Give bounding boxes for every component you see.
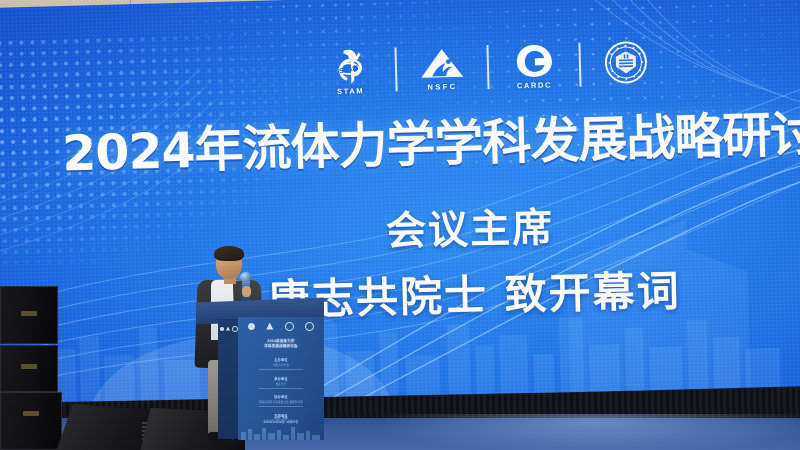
speaker-name-label: 唐志共院士 致开幕词 (267, 257, 681, 327)
organizer-heading: 协办单位 (244, 394, 318, 399)
divider (259, 388, 303, 389)
logo-cell-cardc: CARDC (488, 41, 579, 90)
lectern-front-panel: 2024年流体力学 学科发展战略研讨会 主办单位 中国力学学会 承办单位 重庆大… (238, 317, 324, 440)
list-item: 承办单位 重庆大学 (244, 376, 318, 389)
lectern-skyline-motif (238, 424, 324, 440)
conference-stage-photo: STAM STAM NSFC CARDC (0, 0, 800, 450)
lectern-front-logos (242, 321, 320, 331)
organizer-name: 中国力学学会 (244, 363, 318, 367)
logo-cell-cstam: STAM STAM (304, 45, 395, 96)
cstam-logo: STAM (326, 46, 373, 85)
sponsor-logo-strip: STAM STAM NSFC CARDC (304, 31, 675, 103)
divider (259, 369, 303, 370)
nsfc-logo-caption: NSFC (427, 81, 457, 91)
chongqing-university-logo (603, 40, 648, 85)
glasses (217, 259, 241, 265)
lectern-side-logos (219, 324, 239, 333)
cardc-logo-caption: CARDC (517, 80, 552, 90)
cardc-mini-icon (285, 322, 294, 331)
subwoofer-cabinet-bottom (0, 392, 62, 450)
organizer-heading: 主办单位 (244, 357, 318, 362)
hand (242, 286, 251, 297)
logo-cell-nsfc: NSFC (396, 45, 487, 92)
speaker-role-label: 会议主席 (385, 195, 554, 257)
lectern-title: 2024年流体力学 学科发展战略研讨会 (246, 339, 316, 349)
organizer-name: 国家自然科学基金委员会 数理科学部 (244, 400, 318, 404)
list-item: 主办单位 中国力学学会 (244, 357, 318, 370)
list-item: 协办单位 国家自然科学基金委员会 数理科学部 (244, 394, 318, 407)
lectern-podium: 2024年流体力学 学科发展战略研讨会 主办单位 中国力学学会 承办单位 重庆大… (196, 300, 324, 440)
cstam-mini-icon (220, 327, 224, 331)
organizer-heading: 承办单位 (244, 376, 318, 381)
lectern-footer: 中国 · 重庆 2024年11月22日 - 11月24日 (244, 416, 318, 424)
lectern-side-face (218, 319, 240, 439)
organizer-name: 重庆大学 (244, 382, 318, 386)
nsfc-logo (418, 45, 465, 80)
divider (259, 406, 303, 407)
cstam-mini-icon (248, 323, 255, 330)
cstam-logo-caption: STAM (337, 86, 364, 96)
line-array-cabinet-middle (0, 345, 58, 392)
chongqing-university-mini-icon (305, 322, 314, 331)
lectern-title-line2: 学科发展战略研讨会 (246, 344, 316, 349)
cardc-logo (513, 42, 554, 79)
nsfc-mini-icon (266, 323, 273, 330)
nsfc-mini-icon (226, 327, 230, 331)
logo-cell-chongqing-university (580, 39, 671, 87)
stage-floor-light-pool (380, 414, 800, 450)
line-array-cabinet-top (0, 286, 58, 344)
microphone-head (240, 272, 252, 282)
